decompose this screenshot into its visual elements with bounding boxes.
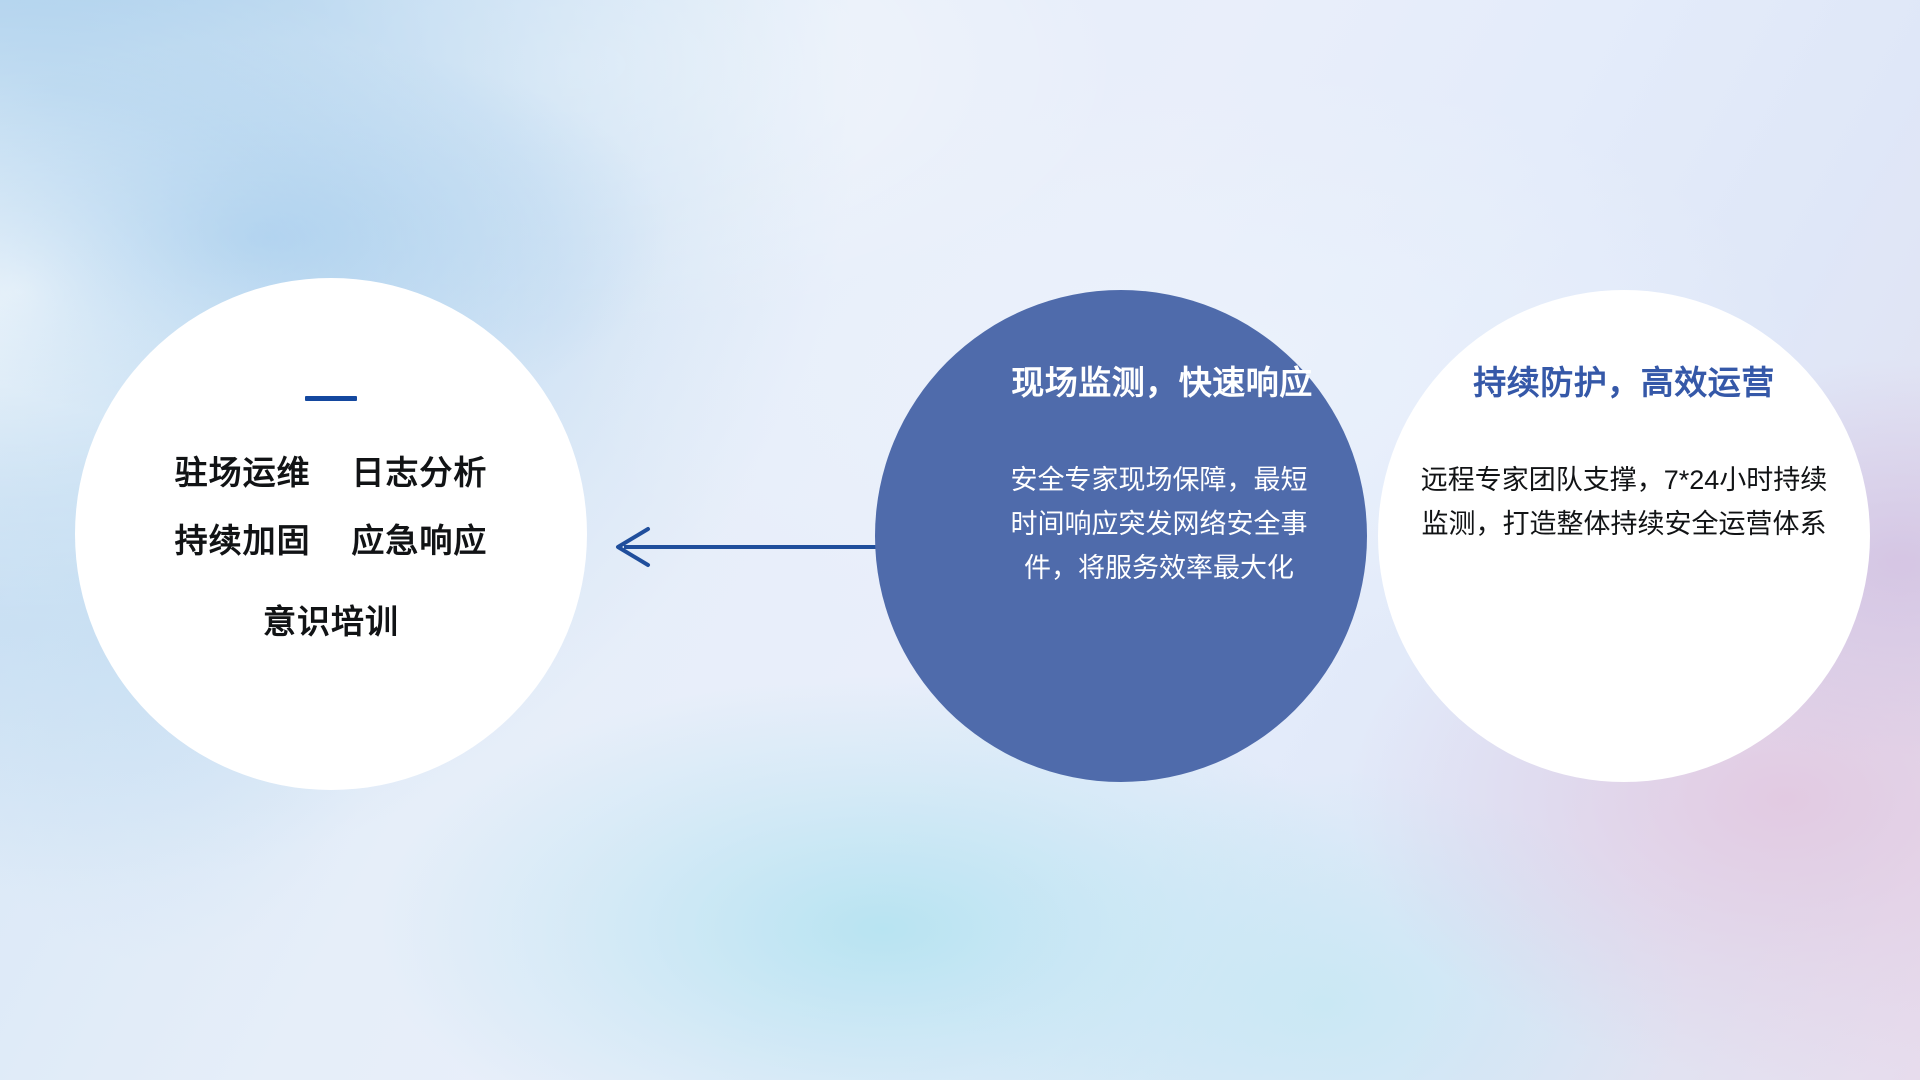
flow-arrow-left-icon (600, 512, 900, 582)
capability-line-3: 意识培训 (263, 602, 399, 642)
middle-circle-content: 现场监测，快速响应 安全专家现场保障，最短时间响应突发网络安全事件，将服务效率最… (875, 290, 1367, 782)
right-circle-body: 远程专家团队支撑，7*24小时持续监测，打造整体持续安全运营体系 (1420, 459, 1828, 546)
middle-circle-body: 安全专家现场保障，最短时间响应突发网络安全事件，将服务效率最大化 (1009, 459, 1309, 590)
middle-circle-title: 现场监测，快速响应 (1011, 362, 1313, 403)
left-capability-circle[interactable]: 驻场运维 日志分析 持续加固 应急响应 意识培训 (75, 278, 587, 790)
middle-onsite-circle[interactable]: 现场监测，快速响应 安全专家现场保障，最短时间响应突发网络安全事件，将服务效率最… (875, 290, 1367, 782)
right-circle-content: 持续防护，高效运营 远程专家团队支撑，7*24小时持续监测，打造整体持续安全运营… (1378, 290, 1870, 782)
capability-line-2: 持续加固 应急响应 (175, 521, 488, 561)
left-circle-content: 驻场运维 日志分析 持续加固 应急响应 意识培训 (75, 278, 587, 790)
right-circle-title: 持续防护，高效运营 (1473, 362, 1775, 403)
capability-line-1: 驻场运维 日志分析 (175, 453, 488, 493)
accent-divider-rule (305, 396, 357, 401)
slide-canvas: 驻场运维 日志分析 持续加固 应急响应 意识培训 现场监测，快速响应 安全专家现… (0, 0, 1920, 1080)
right-continuous-circle[interactable]: 持续防护，高效运营 远程专家团队支撑，7*24小时持续监测，打造整体持续安全运营… (1378, 290, 1870, 782)
